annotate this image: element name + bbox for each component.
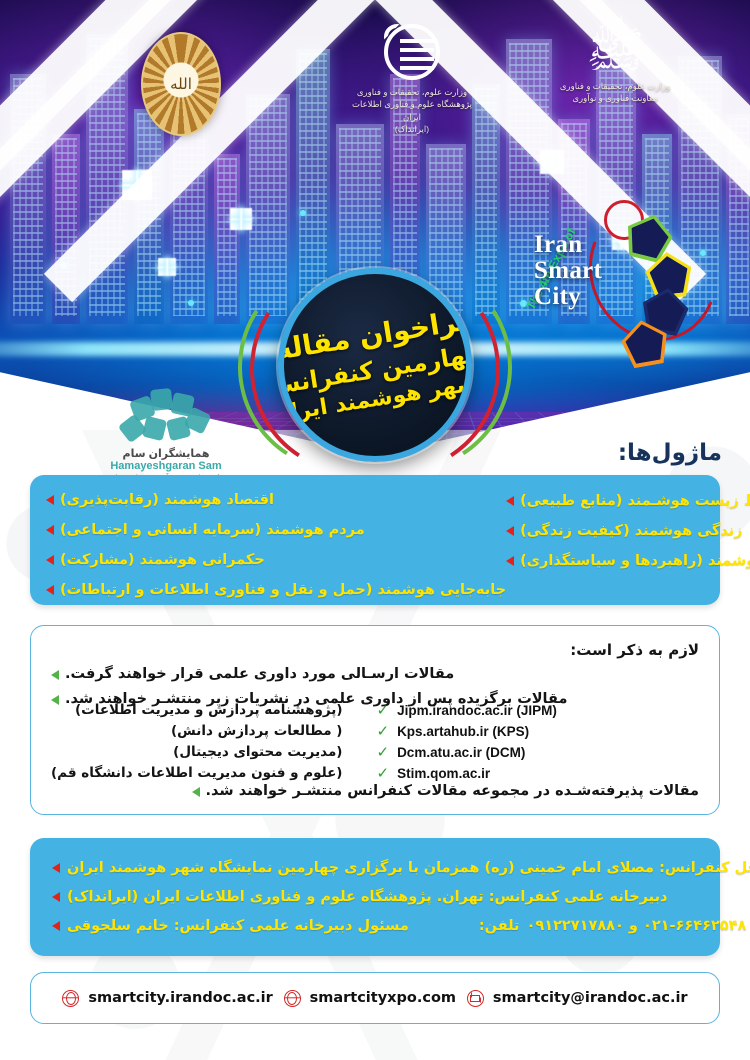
footer-link-website-expo[interactable]: smartcityxpo.com <box>284 990 456 1007</box>
journal-name: (پژوهشنامه پردازش و مدیریت اطلاعات) <box>51 700 342 721</box>
modules-left-column: محیط زیست هوشـمند (منابع طبیعی) زندگی هو… <box>506 486 750 596</box>
notes-heading: لازم به ذکر است: <box>51 638 699 662</box>
note-text: مقالات پذیرفته‌شـده در مجموعه مقالات کنف… <box>206 779 699 804</box>
venue-row-secretariat: دبیرخانه علمی کنفرانس: تهران. پژوهشگاه ع… <box>52 884 667 911</box>
logo-ministry-interior: الله <box>133 32 229 136</box>
module-label: تحول هوشمند (راهبردها و سیاستگذاری) <box>520 547 750 575</box>
footer-panel: smartcity.irandoc.ac.ir smartcityxpo.com… <box>30 972 720 1024</box>
irandoc-mark-icon <box>384 24 440 80</box>
note-text: مقالات ارسـالی مورد داوری علمی قرار خواه… <box>65 662 454 687</box>
journal-names-column: (پژوهشنامه پردازش و مدیریت اطلاعات) ( مط… <box>51 700 342 784</box>
arrow-bullet-icon <box>52 921 60 931</box>
arrow-bullet-icon <box>192 787 200 797</box>
module-item: حکمرانی هوشمند (مشارکت) <box>46 546 265 574</box>
venue-phone-label: تلفن: <box>479 913 520 940</box>
sponsor-name-fa: همایشگران سام <box>82 447 250 460</box>
venue-row-location: محل کنفرانس: مصلای امام خمینی (ره) همزما… <box>52 855 750 882</box>
iran-emblem-icon: الله <box>170 77 192 92</box>
module-item: جابه‌جایی هوشمند (حمل و نقل و فناوری اطل… <box>46 576 506 604</box>
venue-phone-numbers: ۰۲۱-۶۶۴۶۲۵۴۸ و ۰۹۱۲۲۷۱۷۸۸۰ <box>527 913 747 940</box>
sam-mark-icon <box>118 388 214 444</box>
node-dot <box>188 300 194 306</box>
venue-contact-person: مسئول دبیرخانه علمی کنفرانس: خانم سلجوقی <box>67 913 409 940</box>
logo-irandoc: وزارت علوم، تحقیقات و فناوری پژوهشگاه عل… <box>342 24 482 135</box>
arrow-bullet-icon <box>51 670 59 680</box>
module-label: مردم هوشمند (سرمایه انسانی و اجتماعی) <box>60 516 365 544</box>
module-label: جابه‌جایی هوشمند (حمل و نقل و فناوری اطل… <box>60 576 506 604</box>
expo-title-line3: City <box>534 284 602 310</box>
venue-row-contact: ۰۲۱-۶۶۴۶۲۵۴۸ و ۰۹۱۲۲۷۱۷۸۸۰ تلفن: مسئول د… <box>52 913 746 940</box>
call-for-papers-badge: فراخوان مقاله چهارمین کنفرانس شهر هوشمند… <box>272 268 478 474</box>
venue-secretariat-text: دبیرخانه علمی کنفرانس: تهران. پژوهشگاه ع… <box>67 884 667 911</box>
module-item: اقتصاد هوشمند (رقابت‌پذیری) <box>46 486 274 514</box>
modules-panel: اقتصاد هوشمند (رقابت‌پذیری) مردم هوشمند … <box>30 475 720 605</box>
footer-link-text[interactable]: smartcityxpo.com <box>310 990 456 1006</box>
check-icon: ✓ <box>376 700 389 721</box>
sparkle-icon <box>158 258 176 276</box>
modules-right-column: اقتصاد هوشمند (رقابت‌پذیری) مردم هوشمند … <box>46 486 506 596</box>
module-item: زندگی هوشمند (کیفیت زندگی) <box>506 517 742 545</box>
logo-hamayeshgaran-sam: همایشگران سام Hamayeshgaran Sam مرکز شتا… <box>82 388 250 482</box>
journal-url[interactable]: Jipm.irandoc.ac.ir (JIPM) <box>397 700 557 721</box>
module-label: حکمرانی هوشمند (مشارکت) <box>60 546 265 574</box>
logo-caption-line2: پژوهشگاه علوم و فناوری اطلاعات ایران <box>342 98 482 123</box>
badge-circle: فراخوان مقاله چهارمین کنفرانس شهر هوشمند… <box>278 268 472 462</box>
arrow-bullet-icon <box>46 525 54 535</box>
journal-list: (پژوهشنامه پردازش و مدیریت اطلاعات) ( مط… <box>31 700 719 784</box>
logo-caption-line1: وزارت علوم، تحقیقات و فناوری <box>540 80 690 92</box>
journal-name: (مدیریت محتوای دیجیتال) <box>51 742 342 763</box>
building <box>214 154 240 324</box>
journal-url[interactable]: Dcm.atu.ac.ir (DCM) <box>397 742 525 763</box>
poster-root: الله وزارت علوم، تحقیقات و فناوری پژوهشگ… <box>0 0 750 1060</box>
logo-ministry-science: ﷺ وزارت علوم، تحقیقات و فناوری معاونت فن… <box>540 24 690 105</box>
mail-icon <box>467 990 484 1007</box>
arrow-bullet-icon <box>46 555 54 565</box>
arrow-bullet-icon <box>506 556 514 566</box>
footer-link-email[interactable]: smartcity@irandoc.ac.ir <box>467 990 688 1007</box>
expo-logo: The 4th Expo of Iran Smart City <box>522 196 722 352</box>
check-icon: ✓ <box>376 742 389 763</box>
module-label: محیط زیست هوشـمند (منابع طبیعی) <box>520 487 750 515</box>
arrow-bullet-icon <box>52 863 60 873</box>
arrow-bullet-icon <box>46 495 54 505</box>
journal-name: ( مطالعات پردازش دانش) <box>51 721 342 742</box>
arrow-bullet-icon <box>52 892 60 902</box>
pentagon-orange-icon <box>618 316 671 369</box>
arrow-bullet-icon <box>506 496 514 506</box>
logo-caption-line2: معاونت فناوری و نوآوری <box>540 92 690 104</box>
note-item: مقالات پذیرفته‌شـده در مجموعه مقالات کنف… <box>192 779 699 804</box>
logo-caption-line3: (ایرانداک) <box>342 123 482 135</box>
footer-link-text[interactable]: smartcity@irandoc.ac.ir <box>493 990 688 1006</box>
footer-link-website-main[interactable]: smartcity.irandoc.ac.ir <box>62 990 272 1007</box>
arrow-bullet-icon <box>46 585 54 595</box>
seal-icon: الله <box>141 32 221 136</box>
module-label: اقتصاد هوشمند (رقابت‌پذیری) <box>60 486 274 514</box>
venue-panel: محل کنفرانس: مصلای امام خمینی (ره) همزما… <box>30 838 720 956</box>
footer-link-text[interactable]: smartcity.irandoc.ac.ir <box>88 990 272 1006</box>
venue-location-text: محل کنفرانس: مصلای امام خمینی (ره) همزما… <box>67 855 750 882</box>
module-item: محیط زیست هوشـمند (منابع طبیعی) <box>506 487 750 515</box>
module-item: مردم هوشمند (سرمایه انسانی و اجتماعی) <box>46 516 365 544</box>
journal-urls-column: ✓ Jipm.irandoc.ac.ir (JIPM) ✓ Kps.artahu… <box>352 700 556 784</box>
iran-emblem-icon: ﷺ <box>540 24 690 76</box>
node-dot <box>300 210 306 216</box>
module-label: زندگی هوشمند (کیفیت زندگی) <box>520 517 742 545</box>
sponsor-name-en: Hamayeshgaran Sam <box>82 460 250 472</box>
check-icon: ✓ <box>376 721 389 742</box>
expo-title-line1: Iran <box>534 232 602 258</box>
sparkle-icon <box>230 208 252 230</box>
arrow-bullet-icon <box>506 526 514 536</box>
journal-url-row[interactable]: ✓ Jipm.irandoc.ac.ir (JIPM) <box>376 700 556 721</box>
journal-url-row[interactable]: ✓ Kps.artahub.ir (KPS) <box>376 721 556 742</box>
note-item: مقالات ارسـالی مورد داوری علمی قرار خواه… <box>51 662 454 687</box>
module-item: تحول هوشمند (راهبردها و سیاستگذاری) <box>506 547 750 575</box>
journal-url-row[interactable]: ✓ Dcm.atu.ac.ir (DCM) <box>376 742 556 763</box>
notes-panel: لازم به ذکر است: مقالات ارسـالی مورد داو… <box>30 625 720 815</box>
expo-title: Iran Smart City <box>534 232 602 310</box>
journal-url[interactable]: Kps.artahub.ir (KPS) <box>397 721 529 742</box>
logo-caption-line1: وزارت علوم، تحقیقات و فناوری <box>342 86 482 98</box>
header-logos: الله وزارت علوم، تحقیقات و فناوری پژوهشگ… <box>0 16 750 136</box>
modules-heading: ماژول‌ها: <box>618 440 722 466</box>
globe-icon <box>284 990 301 1007</box>
globe-icon <box>62 990 79 1007</box>
expo-title-line2: Smart <box>534 258 602 284</box>
